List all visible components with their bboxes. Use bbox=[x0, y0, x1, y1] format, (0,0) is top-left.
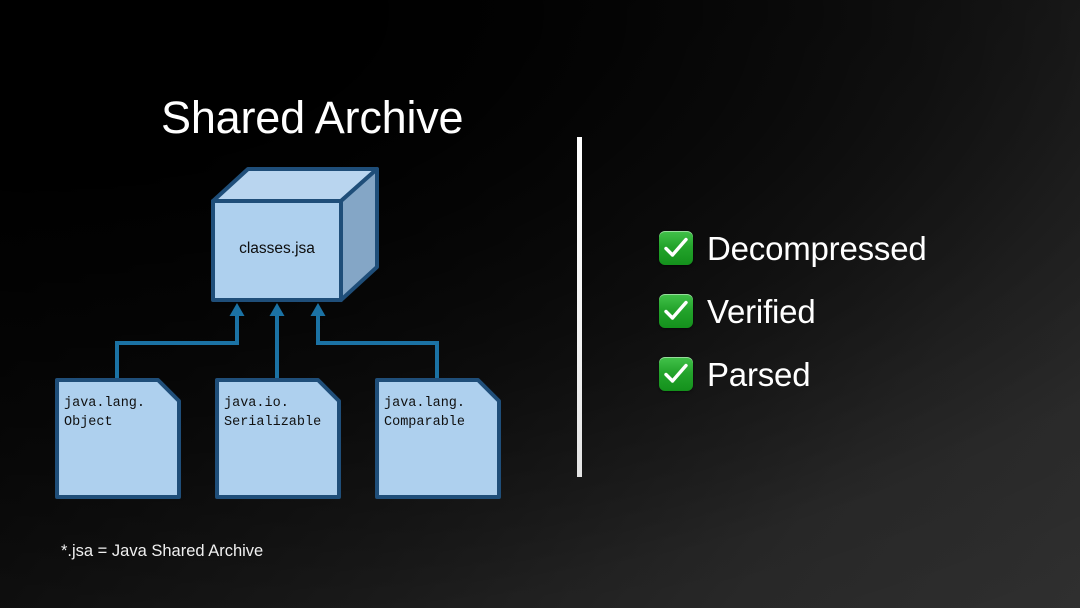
list-item: Decompressed bbox=[659, 222, 927, 274]
arrow-up-icon-left bbox=[230, 303, 245, 316]
connector-group bbox=[117, 312, 437, 378]
arrow-up-icon-middle bbox=[270, 303, 285, 316]
connector-line-right bbox=[318, 312, 437, 378]
slide-canvas: Shared Archive bbox=[0, 0, 1080, 608]
list-item: Verified bbox=[659, 285, 927, 337]
document-icon-2 bbox=[377, 380, 499, 497]
connector-line-left bbox=[117, 312, 237, 378]
cube-3d-icon bbox=[213, 169, 377, 300]
document-shapes bbox=[57, 380, 499, 497]
green-check-mark-icon bbox=[659, 294, 693, 328]
green-check-mark-icon bbox=[659, 231, 693, 265]
footnote: *.jsa = Java Shared Archive bbox=[61, 542, 263, 561]
cube-front-face bbox=[213, 201, 341, 300]
connector-arrowheads bbox=[230, 303, 326, 316]
list-item: Parsed bbox=[659, 348, 927, 400]
properties-list: Decompressed Verified Parsed bbox=[659, 222, 927, 411]
list-item-label: Verified bbox=[707, 295, 815, 328]
list-item-label: Decompressed bbox=[707, 232, 927, 265]
list-item-label: Parsed bbox=[707, 358, 810, 391]
vertical-rule-icon bbox=[577, 137, 582, 477]
arrow-up-icon-right bbox=[311, 303, 326, 316]
green-check-mark-icon bbox=[659, 357, 693, 391]
document-icon-1 bbox=[217, 380, 339, 497]
document-icon-0 bbox=[57, 380, 179, 497]
